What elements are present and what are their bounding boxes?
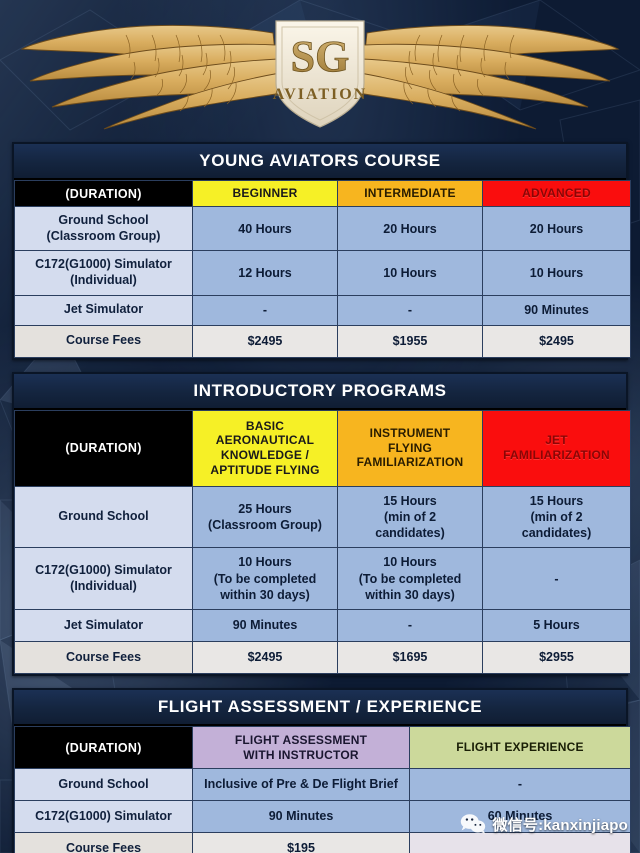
row-label: Course Fees — [15, 325, 193, 357]
duration-header: (DURATION) — [15, 181, 193, 207]
data-cell: 10 Hours — [483, 251, 631, 295]
data-cell: - — [338, 610, 483, 642]
table-row: Ground School(Classroom Group)40 Hours20… — [15, 207, 631, 251]
duration-header: (DURATION) — [15, 727, 193, 769]
table-row: C172(G1000) Simulator(Individual)12 Hour… — [15, 251, 631, 295]
table-header-row: (DURATION)FLIGHT ASSESSMENTWITH INSTRUCT… — [15, 727, 631, 769]
sg-aviation-winged-logo: SG AVIATION — [20, 11, 620, 131]
column-header-yellow: BASICAERONAUTICALKNOWLEDGE /APTITUDE FLY… — [193, 410, 338, 486]
table-header-row: (DURATION)BASICAERONAUTICALKNOWLEDGE /AP… — [15, 410, 631, 486]
data-cell: $2955 — [483, 642, 631, 674]
table-row: Course Fees$195 — [15, 833, 631, 853]
row-label: Ground School — [15, 486, 193, 548]
data-cell: - — [338, 295, 483, 325]
table-row: Course Fees$2495$1955$2495 — [15, 325, 631, 357]
wechat-icon — [460, 813, 486, 835]
data-cell: $2495 — [193, 325, 338, 357]
data-cell: $195 — [193, 833, 410, 853]
row-label: Course Fees — [15, 642, 193, 674]
table-title: INTRODUCTORY PROGRAMS — [14, 374, 626, 410]
data-cell: - — [193, 295, 338, 325]
shield-title: SG — [291, 32, 350, 81]
data-cell: 25 Hours(Classroom Group) — [193, 486, 338, 548]
data-cell: - — [483, 548, 631, 610]
table-title: YOUNG AVIATORS COURSE — [14, 144, 626, 180]
table-row: Ground SchoolInclusive of Pre & De Fligh… — [15, 769, 631, 801]
column-header-purple: FLIGHT ASSESSMENTWITH INSTRUCTOR — [193, 727, 410, 769]
row-label: Jet Simulator — [15, 610, 193, 642]
data-cell: 15 Hours(min of 2candidates) — [483, 486, 631, 548]
data-cell: $2495 — [483, 325, 631, 357]
table-row: C172(G1000) Simulator(Individual)10 Hour… — [15, 548, 631, 610]
data-cell: Inclusive of Pre & De Flight Brief — [193, 769, 410, 801]
data-cell: 40 Hours — [193, 207, 338, 251]
brand-header: SG AVIATION — [0, 0, 640, 142]
shield-badge: SG AVIATION — [273, 21, 368, 127]
data-cell: 5 Hours — [483, 610, 631, 642]
data-cell: 15 Hours(min of 2candidates) — [338, 486, 483, 548]
pricing-table: (DURATION)BASICAERONAUTICALKNOWLEDGE /AP… — [14, 410, 631, 675]
data-cell: - — [410, 769, 631, 801]
row-label: Jet Simulator — [15, 295, 193, 325]
table-row: Jet Simulator--90 Minutes — [15, 295, 631, 325]
column-header-orange: INSTRUMENTFLYINGFAMILIARIZATION — [338, 410, 483, 486]
data-cell: 90 Minutes — [193, 610, 338, 642]
data-cell: 20 Hours — [338, 207, 483, 251]
row-label: Ground School(Classroom Group) — [15, 207, 193, 251]
table-row: Ground School25 Hours(Classroom Group)15… — [15, 486, 631, 548]
row-label: C172(G1000) Simulator(Individual) — [15, 251, 193, 295]
pricing-table: (DURATION)BEGINNERINTERMEDIATEADVANCEDGr… — [14, 180, 631, 358]
column-header-red: ADVANCED — [483, 181, 631, 207]
table-title: FLIGHT ASSESSMENT / EXPERIENCE — [14, 690, 626, 726]
course-tables: YOUNG AVIATORS COURSE(DURATION)BEGINNERI… — [0, 142, 640, 853]
data-cell — [410, 833, 631, 853]
data-cell: 10 Hours(To be completedwithin 30 days) — [193, 548, 338, 610]
duration-header: (DURATION) — [15, 410, 193, 486]
data-cell: 90 Minutes — [193, 801, 410, 833]
data-cell: $2495 — [193, 642, 338, 674]
row-label: C172(G1000) Simulator — [15, 801, 193, 833]
wechat-watermark-text: 微信号:kanxinjiapo — [492, 814, 628, 835]
row-label: Course Fees — [15, 833, 193, 853]
table-card-young-aviators-course: YOUNG AVIATORS COURSE(DURATION)BEGINNERI… — [12, 142, 628, 360]
row-label: Ground School — [15, 769, 193, 801]
column-header-red: JETFAMILIARIZATION — [483, 410, 631, 486]
table-card-introductory-programs: INTRODUCTORY PROGRAMS(DURATION)BASICAERO… — [12, 372, 628, 677]
column-header-yellow: BEGINNER — [193, 181, 338, 207]
column-header-orange: INTERMEDIATE — [338, 181, 483, 207]
row-label: C172(G1000) Simulator(Individual) — [15, 548, 193, 610]
data-cell: 90 Minutes — [483, 295, 631, 325]
table-header-row: (DURATION)BEGINNERINTERMEDIATEADVANCED — [15, 181, 631, 207]
table-row: Jet Simulator90 Minutes-5 Hours — [15, 610, 631, 642]
column-header-green: FLIGHT EXPERIENCE — [410, 727, 631, 769]
shield-subtitle: AVIATION — [273, 86, 368, 103]
data-cell: $1695 — [338, 642, 483, 674]
data-cell: 20 Hours — [483, 207, 631, 251]
data-cell: $1955 — [338, 325, 483, 357]
data-cell: 10 Hours — [338, 251, 483, 295]
data-cell: 10 Hours(To be completedwithin 30 days) — [338, 548, 483, 610]
data-cell: 12 Hours — [193, 251, 338, 295]
wechat-watermark: 微信号:kanxinjiapo — [460, 813, 628, 835]
table-row: Course Fees$2495$1695$2955 — [15, 642, 631, 674]
